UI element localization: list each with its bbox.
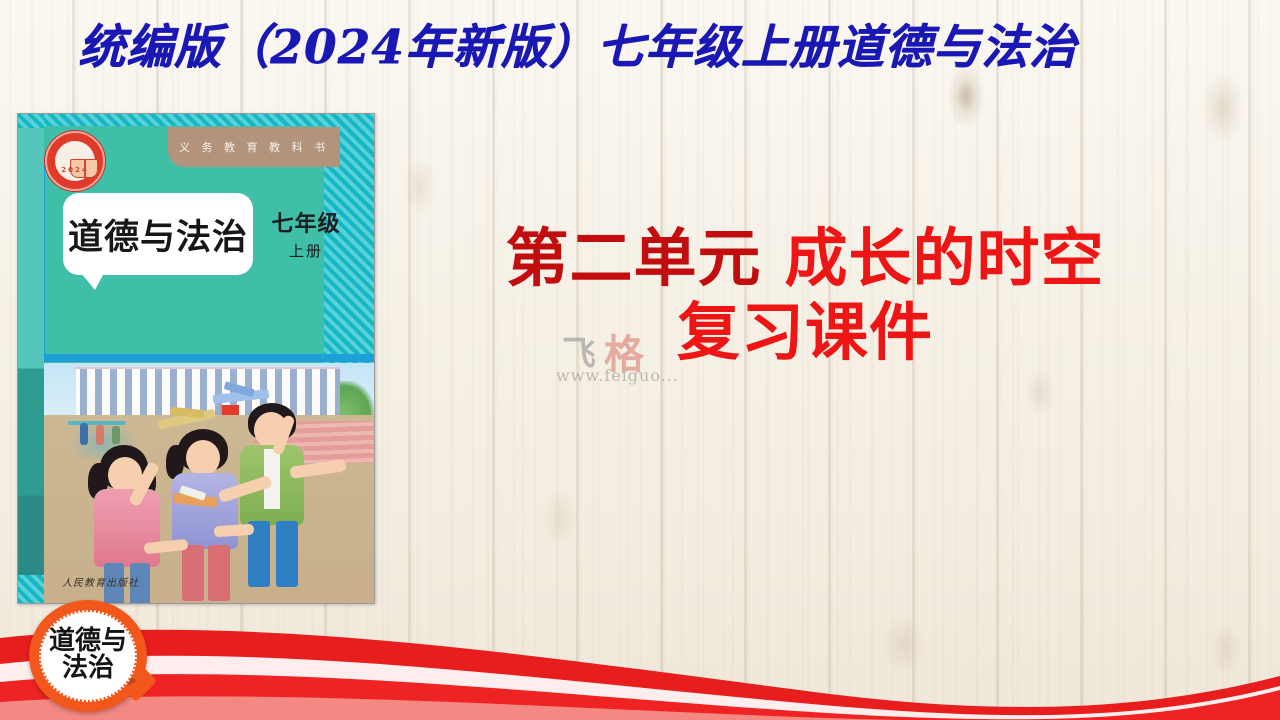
main-title-line-2: 复习课件 <box>376 300 1234 366</box>
textbook-cover-image: 义 务 教 育 教 科 书 道德与法治 七年级 上册 2024 <box>17 113 375 604</box>
main-title-line-1: 第二单元 成长的时空 <box>376 226 1234 292</box>
badge-inner-disc: 道德与 法治 <box>39 610 137 702</box>
seal-inner-disc: 2024 <box>55 141 95 181</box>
cover-volume-label: 上册 <box>263 240 349 261</box>
cover-series-label: 义 务 教 育 教 科 书 <box>179 139 329 155</box>
bottom-wave-ribbon <box>0 590 1280 720</box>
curriculum-seal-icon: 2024 <box>45 131 105 191</box>
cover-grade-label: 七年级 <box>263 206 349 238</box>
unit-label: 第二单元 <box>506 222 762 295</box>
cover-title-plate: 道德与法治 <box>63 193 253 275</box>
main-title: 第二单元 成长的时空 复习课件 <box>376 226 1234 366</box>
spine-hatch-top <box>18 114 44 128</box>
seal-year-label: 2024 <box>55 166 95 174</box>
cover-illustration: 人民教育出版社 <box>44 363 374 603</box>
cover-subject-label: 道德与法治 <box>63 209 253 260</box>
spine-hatch-bottom <box>18 575 44 603</box>
publisher-mark: 人民教育出版社 <box>62 574 139 589</box>
subject-logo-badge: 道德与 法治 <box>29 600 147 712</box>
illustration-background-child-2 <box>96 425 104 445</box>
cover-blue-rule <box>38 354 374 362</box>
badge-text-line-1: 道德与 <box>41 628 135 655</box>
illustration-background-child-1 <box>80 423 88 445</box>
badge-text-line-2: 法治 <box>41 655 135 682</box>
illustration-background-child-3 <box>112 426 120 444</box>
slide-canvas: 统编版（2024年新版）七年级上册道德与法治 义 务 教 育 教 科 书 道德与… <box>0 0 1280 720</box>
cover-spine <box>18 114 44 603</box>
topic-label: 成长的时空 <box>784 222 1104 295</box>
title-spacer <box>762 222 785 295</box>
page-header-title: 统编版（2024年新版）七年级上册道德与法治 <box>78 22 1138 75</box>
badge-text: 道德与 法治 <box>41 628 135 681</box>
